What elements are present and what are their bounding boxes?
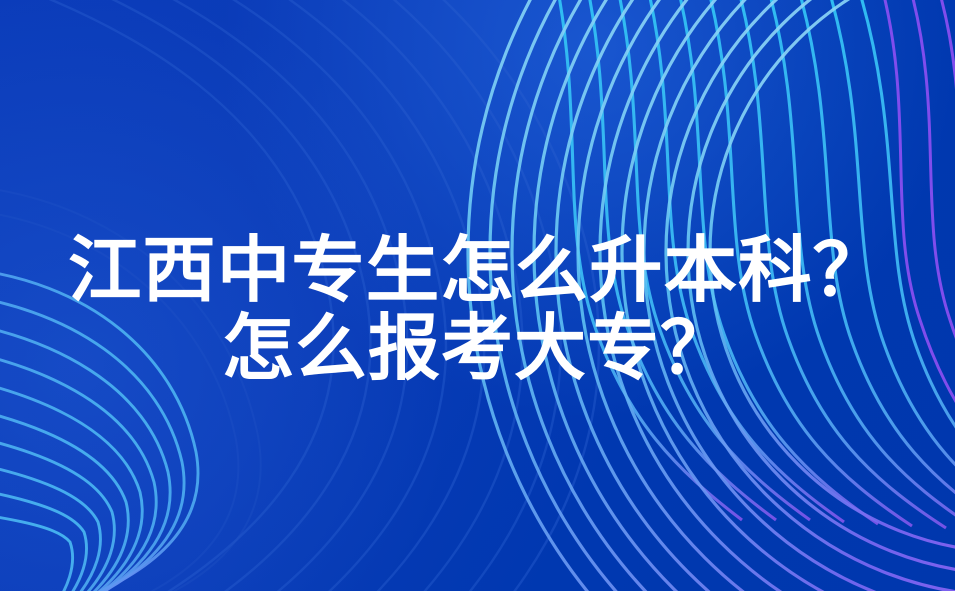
page-title: 江西中专生怎么升本科？ 怎么报考大专？ — [0, 232, 955, 388]
headline-line-2: 怎么报考大专？ — [0, 310, 955, 388]
headline-line-1: 江西中专生怎么升本科？ — [0, 232, 955, 310]
banner-canvas: 江西中专生怎么升本科？ 怎么报考大专？ — [0, 0, 955, 591]
